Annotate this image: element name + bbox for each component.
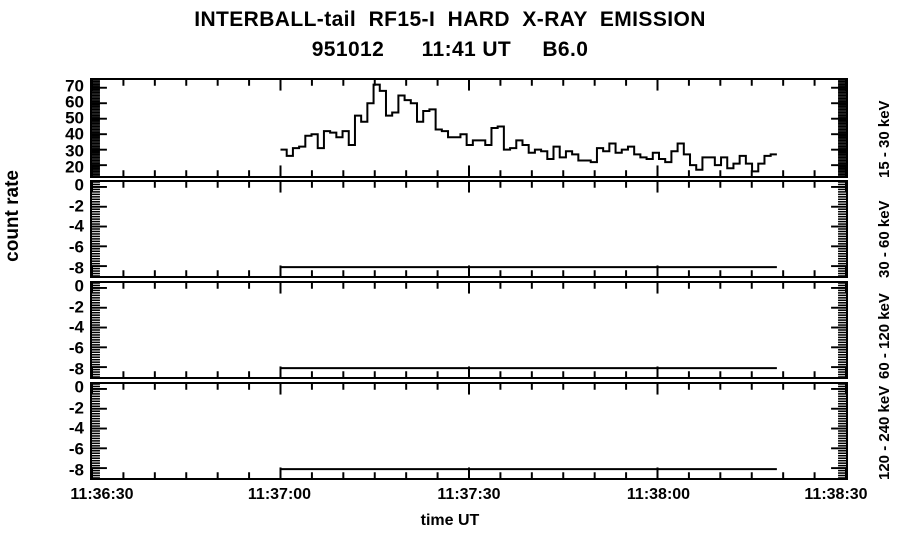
y-tick-labels-panel-1: 706050403020	[24, 78, 84, 178]
y-tick-labels-panel-2: -8-6-4-20	[24, 180, 84, 278]
panel-120-240-kev	[90, 382, 848, 480]
panel-3-canvas	[92, 283, 846, 377]
y-tick-labels-panel-3: -8-6-4-20	[24, 281, 84, 379]
panel-2-canvas	[92, 182, 846, 276]
plot-area	[90, 78, 848, 480]
panel-15-30-kev	[90, 78, 848, 178]
y-tick-label: 0	[75, 278, 84, 295]
band-label-30-60-kev: 30 - 60 keV	[876, 200, 893, 278]
y-tick-label: -2	[69, 197, 84, 214]
x-tick-label: 11:37:00	[248, 486, 311, 504]
panel-60-120-kev	[90, 281, 848, 379]
y-tick-label: -2	[69, 399, 84, 416]
y-tick-label: 20	[65, 158, 84, 175]
y-tick-labels-panel-4: -8-6-4-20	[24, 382, 84, 480]
panel-1-canvas	[92, 80, 846, 176]
panel-4-canvas	[92, 384, 846, 478]
y-tick-label: -4	[69, 218, 84, 235]
y-tick-label: -6	[69, 239, 84, 256]
y-tick-label: -4	[69, 420, 84, 437]
x-tick-label: 11:38:30	[804, 486, 867, 504]
band-label-120-240-kev: 120 - 240 keV	[876, 386, 893, 480]
y-tick-label: -8	[69, 360, 84, 377]
x-tick-label: 11:36:30	[70, 486, 133, 504]
x-axis-title: time UT	[0, 512, 900, 530]
x-tick-label: 11:37:30	[437, 486, 500, 504]
y-tick-label: -6	[69, 340, 84, 357]
y-tick-label: -8	[69, 259, 84, 276]
y-tick-label: -4	[69, 319, 84, 336]
y-tick-label: -6	[69, 441, 84, 458]
panel-30-60-kev	[90, 180, 848, 278]
x-tick-label: 11:38:00	[627, 486, 690, 504]
page-title: INTERBALL-tail RF15-I HARD X-RAY EMISSIO…	[0, 8, 900, 32]
y-axis-title: count rate	[2, 170, 24, 262]
y-tick-label: 0	[75, 177, 84, 194]
band-label-15-30-kev: 15 - 30 keV	[876, 100, 893, 178]
y-tick-label: 0	[75, 379, 84, 396]
y-tick-label: -8	[69, 461, 84, 478]
x-tick-labels: 11:36:3011:37:0011:37:3011:38:0011:38:30	[0, 486, 900, 508]
y-tick-label: -2	[69, 298, 84, 315]
page-subtitle: 951012 11:41 UT B6.0	[0, 38, 900, 62]
chart-title-block: INTERBALL-tail RF15-I HARD X-RAY EMISSIO…	[0, 8, 900, 62]
band-label-60-120-kev: 60 - 120 keV	[876, 293, 893, 379]
